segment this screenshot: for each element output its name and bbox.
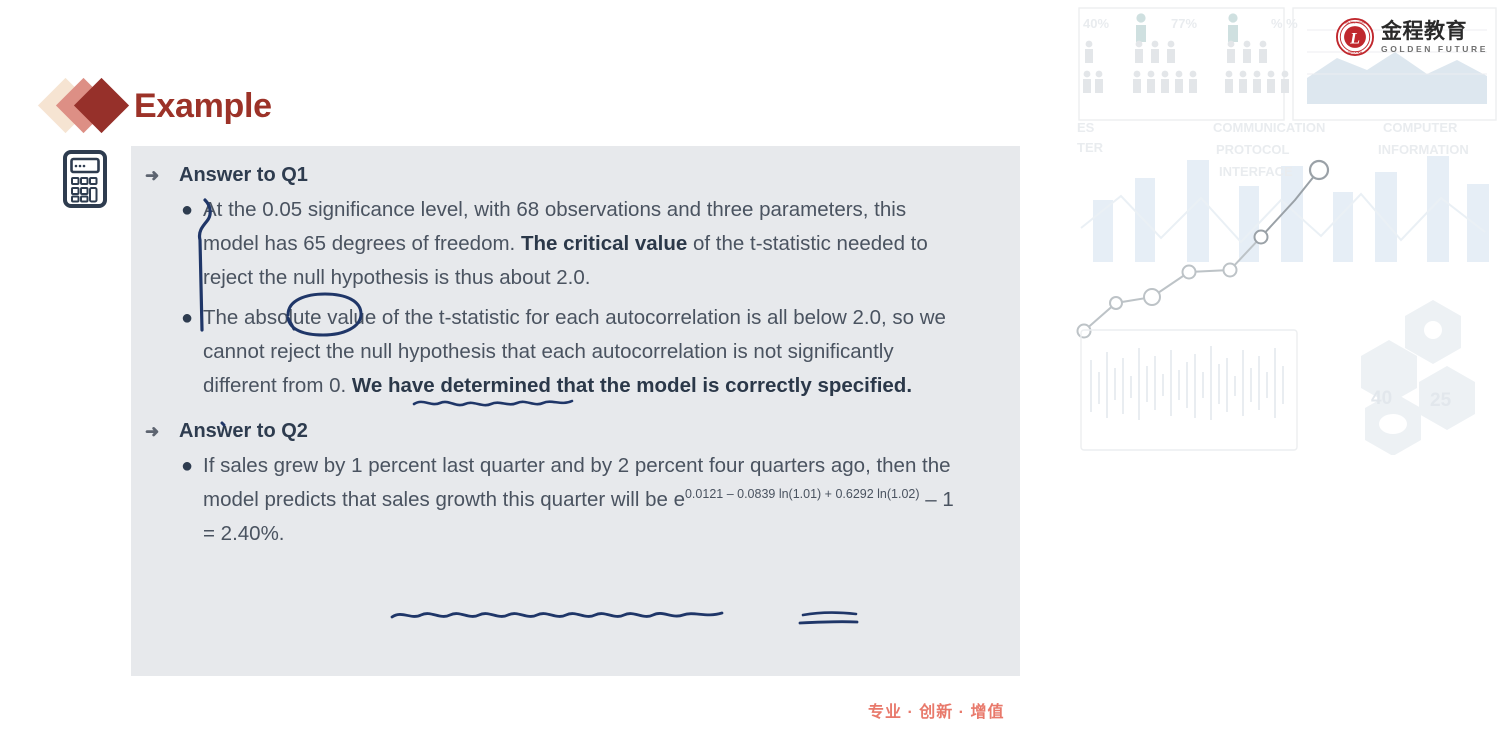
svg-text:INFORMATION: INFORMATION	[1378, 142, 1469, 157]
right-rail: 40 25 40% 77% % % ES TER COMMUNICATION P…	[1075, 0, 1500, 750]
svg-text:L: L	[1349, 31, 1360, 48]
svg-text:ES: ES	[1077, 120, 1095, 135]
area-chart-decoration	[1307, 52, 1487, 104]
svg-text:PROTOCOL: PROTOCOL	[1216, 142, 1289, 157]
hexagon-label: 25	[1430, 390, 1452, 411]
bullet-text-run: If sales grew by 1 percent last quarter …	[203, 454, 951, 511]
bullet-text-run-bold: The critical value	[521, 232, 687, 255]
arrow-bullet-icon: ➜	[145, 167, 179, 184]
svg-text:% %: % %	[1271, 16, 1298, 31]
bullet-text: The absolute value of the t-statistic fo…	[203, 301, 965, 403]
svg-text:GOLDEN FUTURE: GOLDEN FUTURE	[1344, 22, 1365, 25]
slide-canvas: Example ➜ Answer to Q1 ●	[0, 0, 1075, 750]
footer-tagline: 专业 · 创新 · 增值	[868, 698, 1004, 722]
brand-name-block: 金程教育 GOLDEN FUTURE	[1381, 21, 1488, 54]
svg-text:COMMUNICATION: COMMUNICATION	[1213, 120, 1325, 135]
section-heading-q2: ➜ Answer to Q2	[131, 420, 1020, 443]
brand-name-cn: 金程教育	[1381, 21, 1488, 42]
bullet-dot-icon: ●	[181, 449, 203, 483]
bullet-item: ● If sales grew by 1 percent last quarte…	[131, 449, 1020, 551]
svg-text:EDUCATION: EDUCATION	[1348, 52, 1363, 55]
brand-seal-icon: L GOLDEN FUTURE EDUCATION	[1336, 18, 1374, 56]
svg-text:INTERFACE: INTERFACE	[1219, 164, 1293, 179]
bullet-list-q1: ● At the 0.05 significance level, with 6…	[131, 193, 1020, 403]
section-answer-q2: ➜ Answer to Q2 ● If sales grew by 1 perc…	[131, 420, 1020, 551]
exponent-expression: 0.0121 – 0.0839 ln(1.01) + 0.6292 ln(1.0…	[685, 487, 920, 501]
svg-text:40%: 40%	[1083, 16, 1109, 31]
arrow-bullet-icon: ➜	[145, 423, 179, 440]
section-answer-q1: ➜ Answer to Q1 ● At the 0.05 significanc…	[131, 146, 1020, 403]
page-title: Example	[134, 87, 272, 126]
hexagon-label: 40	[1371, 388, 1392, 409]
svg-text:77%: 77%	[1171, 16, 1197, 31]
decorative-infographic-background: 40 25 40% 77% % % ES TER COMMUNICATION P…	[1075, 0, 1500, 455]
bullet-dot-icon: ●	[181, 301, 203, 335]
diamond-decoration-icon	[46, 78, 124, 134]
section-heading-label: Answer to Q2	[179, 420, 308, 443]
bullet-text-run-bold: We have determined that the model is cor…	[352, 374, 912, 397]
svg-text:TER: TER	[1077, 140, 1104, 155]
brand-name-en: GOLDEN FUTURE	[1381, 45, 1488, 54]
svg-text:COMPUTER: COMPUTER	[1383, 120, 1458, 135]
content-panel: ➜ Answer to Q1 ● At the 0.05 significanc…	[131, 146, 1020, 676]
bullet-item: ● The absolute value of the t-statistic …	[131, 301, 1020, 403]
bullet-dot-icon: ●	[181, 193, 203, 227]
brand-logo: L GOLDEN FUTURE EDUCATION 金程教育 GOLDEN FU…	[1336, 18, 1488, 56]
section-heading-q1: ➜ Answer to Q1	[131, 164, 1020, 187]
section-heading-label: Answer to Q1	[179, 164, 308, 187]
calculator-icon	[63, 150, 107, 208]
hexagon-cluster-decoration	[1361, 300, 1475, 455]
candlestick-chart-decoration	[1091, 346, 1283, 420]
bullet-item: ● At the 0.05 significance level, with 6…	[131, 193, 1020, 295]
bullet-text: If sales grew by 1 percent last quarter …	[203, 449, 965, 551]
bullet-text: At the 0.05 significance level, with 68 …	[203, 193, 965, 295]
slide-title-row: Example	[46, 78, 272, 134]
bullet-list-q2: ● If sales grew by 1 percent last quarte…	[131, 449, 1020, 551]
